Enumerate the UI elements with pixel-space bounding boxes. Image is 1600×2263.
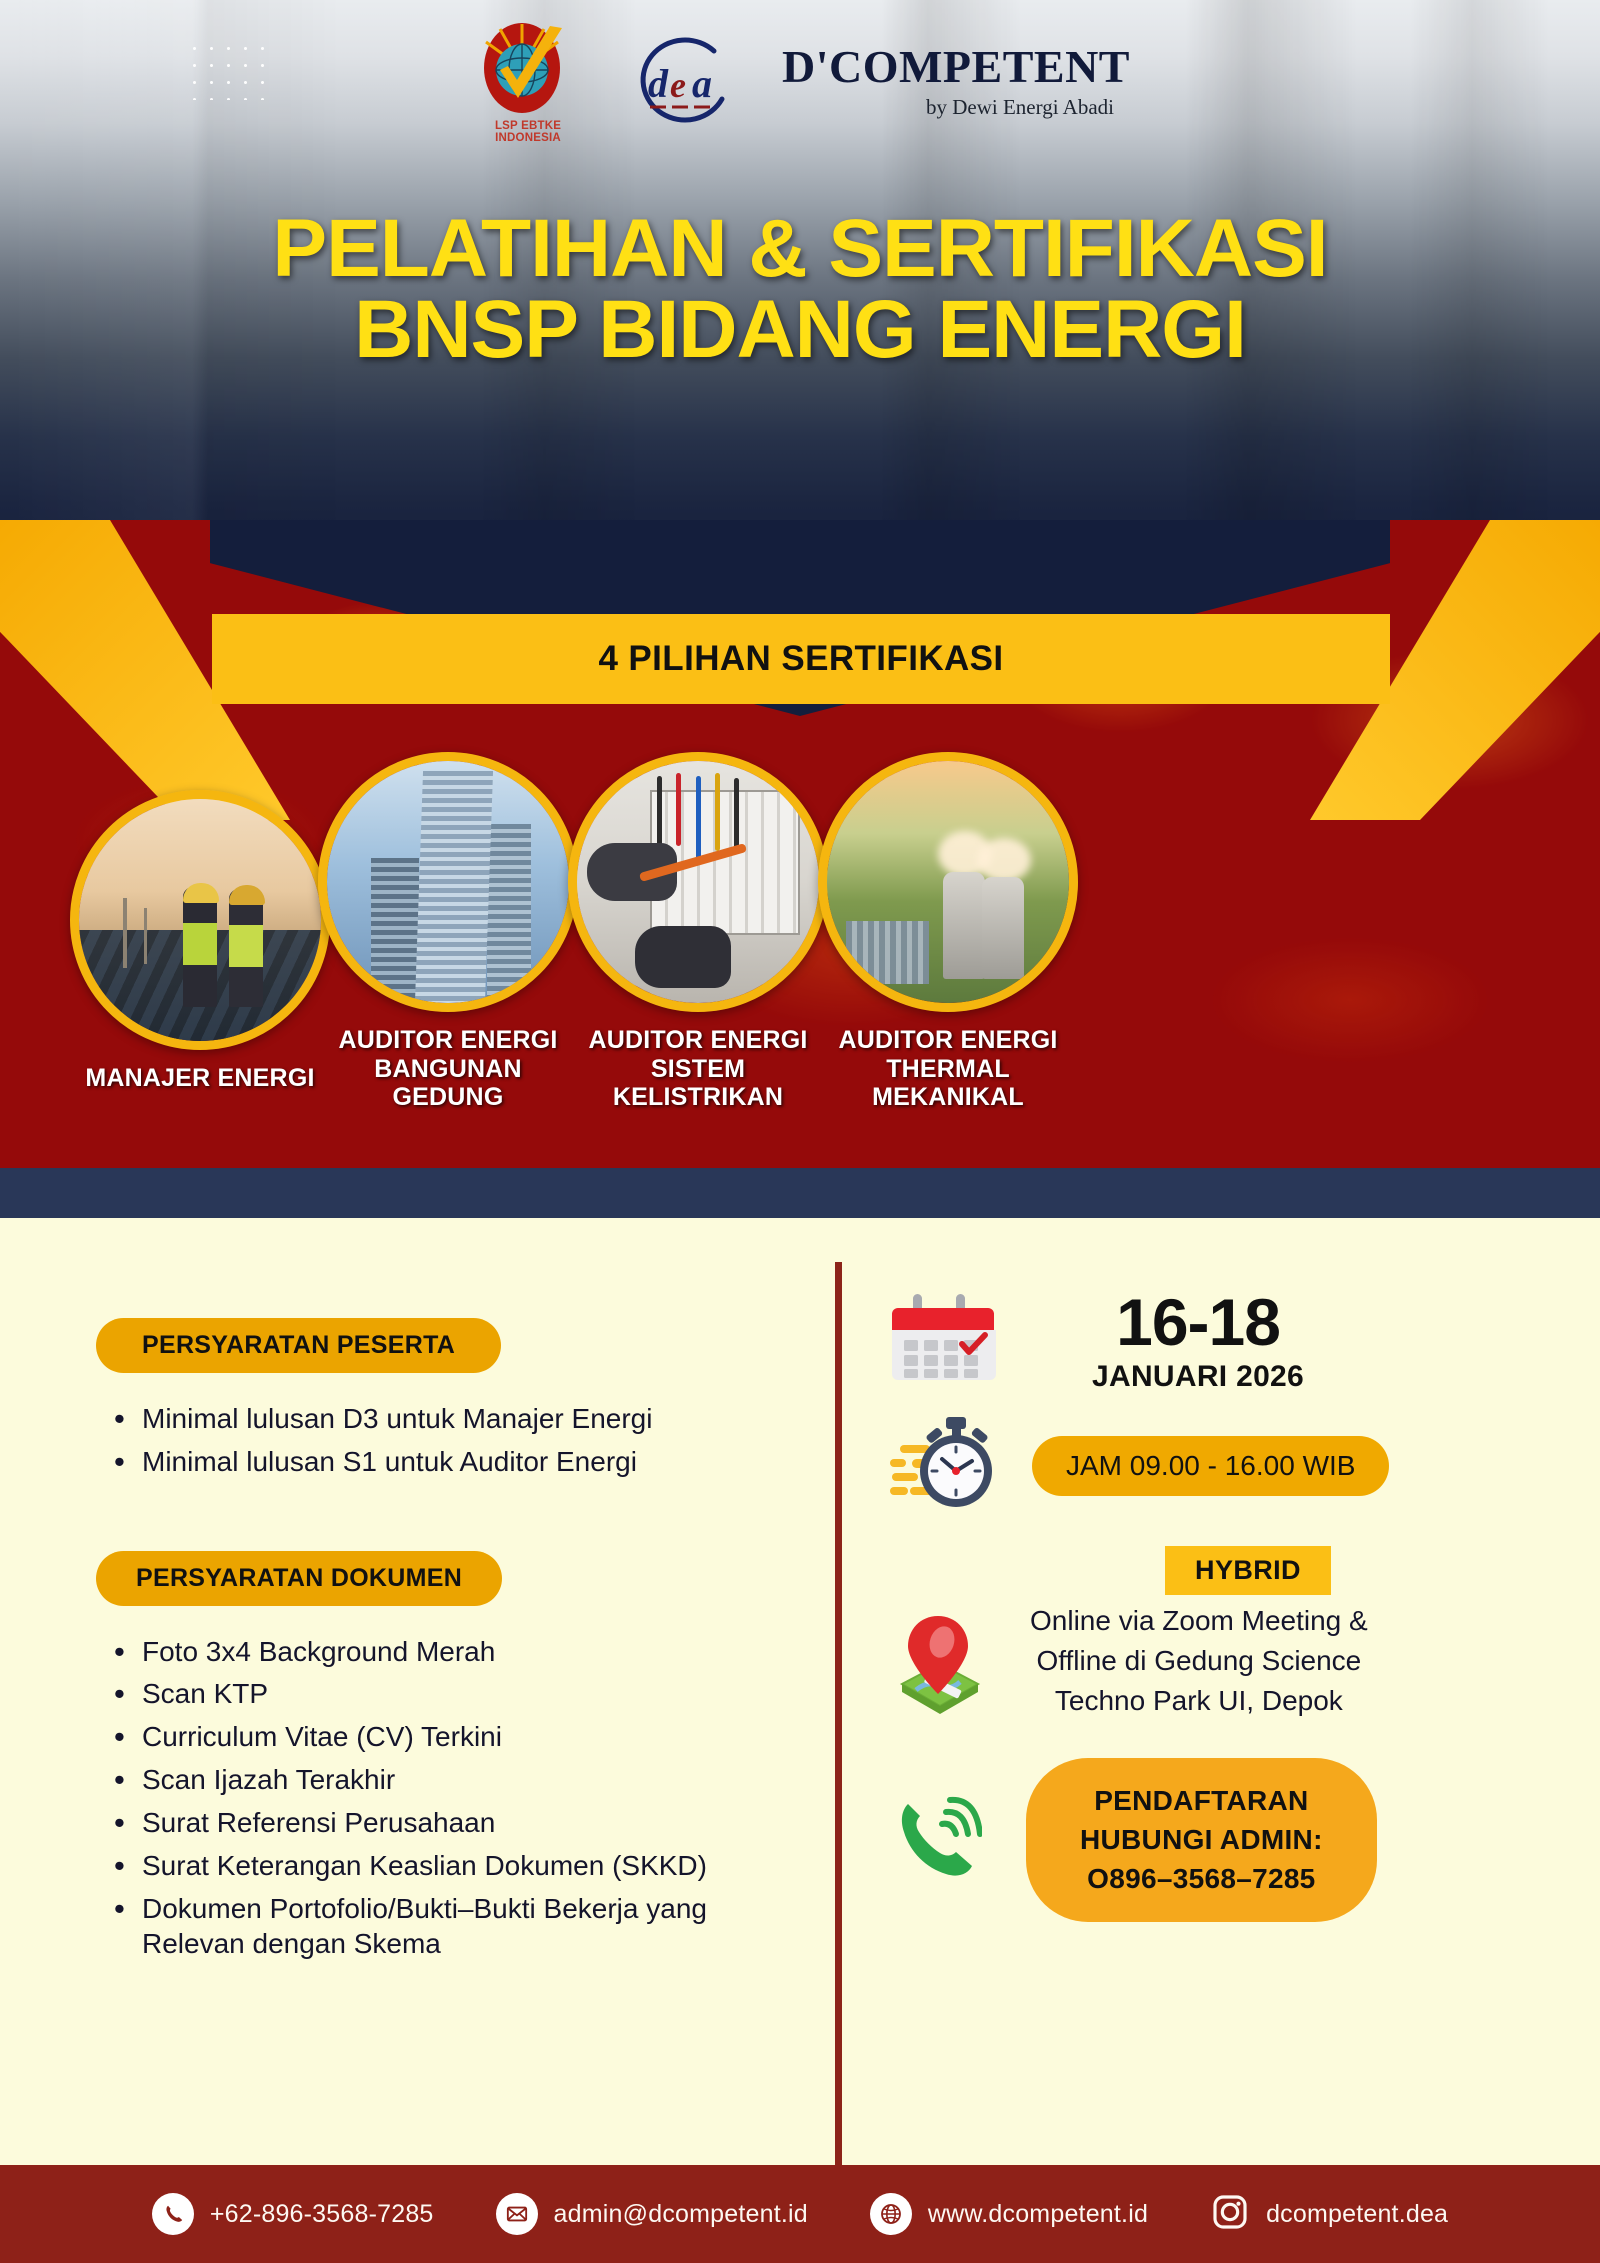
registration-line-1: PENDAFTARAN [1080, 1782, 1323, 1821]
category-label-bangunan-gedung: AUDITOR ENERGI BANGUNAN GEDUNG [318, 1026, 578, 1112]
footer-phone[interactable]: +62-896-3568-7285 [152, 2193, 434, 2235]
category-label-line2: BANGUNAN GEDUNG [318, 1055, 578, 1112]
svg-text:a: a [692, 61, 712, 106]
category-label-sistem-kelistrikan: AUDITOR ENERGI SISTEM KELISTRIKAN [568, 1026, 828, 1112]
category-label-line1: AUDITOR ENERGI [818, 1026, 1078, 1055]
category-label-manajer-energi: MANAJER ENERGI [70, 1064, 330, 1093]
phone-ringing-icon [890, 1790, 982, 1891]
footer-phone-text: +62-896-3568-7285 [210, 2200, 434, 2229]
event-date-row: 16-18 JANUARI 2026 [890, 1290, 1550, 1395]
location-line-2: Offline di Gedung Science [1030, 1641, 1368, 1681]
map-pin-icon [890, 1602, 990, 1719]
footer-instagram-text: dcompetent.dea [1266, 2200, 1448, 2229]
registration-card[interactable]: PENDAFTARAN HUBUNGI ADMIN: O896–3568–728… [1026, 1758, 1377, 1922]
header-hero: LSP EBTKE INDONESIA d e a [0, 0, 1600, 560]
office-tower-photo [327, 761, 569, 1003]
category-image-thermal-mekanikal [818, 752, 1078, 1012]
list-item: Scan Ijazah Terakhir [102, 1762, 786, 1798]
event-location-text: Online via Zoom Meeting & Offline di Ged… [1030, 1601, 1368, 1720]
document-requirements-heading: PERSYARATAN DOKUMEN [96, 1551, 502, 1606]
ribbon-banner: 4 PILIHAN SERTIFIKASI [212, 614, 1390, 704]
status-badge-hybrid: HYBRID [1165, 1546, 1331, 1595]
category-image-bangunan-gedung [318, 752, 578, 1012]
event-time-row: JAM 09.00 - 16.00 WIB [890, 1415, 1550, 1516]
location-line-3: Techno Park UI, Depok [1030, 1681, 1368, 1721]
certification-section: 4 PILIHAN SERTIFIKASI MANAJER ENERGI [0, 520, 1600, 1168]
stopwatch-icon [890, 1415, 996, 1516]
svg-text:d: d [648, 61, 669, 106]
lsp-logo-label: LSP EBTKE INDONESIA [470, 120, 586, 144]
registration-line-2: HUBUNGI ADMIN: [1080, 1821, 1323, 1860]
footer-website[interactable]: www.dcompetent.id [870, 2193, 1148, 2235]
participant-requirements-list: Minimal lulusan D3 untuk Manajer Energi … [102, 1401, 786, 1480]
event-mode-wrap: HYBRID [946, 1546, 1550, 1595]
footer-instagram[interactable]: dcompetent.dea [1210, 2192, 1448, 2237]
wind-turbine-engineers-photo [79, 799, 321, 1041]
brand-tagline: by Dewi Energi Abadi [926, 95, 1114, 120]
location-line-1: Online via Zoom Meeting & [1030, 1601, 1368, 1641]
category-label-thermal-mekanikal: AUDITOR ENERGI THERMAL MEKANIKAL [818, 1026, 1078, 1112]
event-time-badge: JAM 09.00 - 16.00 WIB [1032, 1436, 1389, 1496]
svg-text:e: e [670, 65, 686, 105]
email-icon [496, 2193, 538, 2235]
category-auditor-sistem-kelistrikan[interactable]: AUDITOR ENERGI SISTEM KELISTRIKAN [568, 752, 828, 1112]
navy-separator-bar [0, 1168, 1600, 1218]
lsp-ebtke-logo: LSP EBTKE INDONESIA [470, 22, 586, 142]
footer-website-text: www.dcompetent.id [928, 2200, 1148, 2229]
poster-root: LSP EBTKE INDONESIA d e a [0, 0, 1600, 2263]
title-line-1: PELATIHAN & SERTIFIKASI [0, 208, 1600, 289]
event-date-range: 16-18 [1092, 1291, 1304, 1354]
title-line-2: BNSP BIDANG ENERGI [0, 289, 1600, 370]
category-manajer-energi[interactable]: MANAJER ENERGI [70, 790, 330, 1093]
registration-phone: O896–3568–7285 [1080, 1860, 1323, 1899]
category-image-manajer-energi [70, 790, 330, 1050]
list-item: Surat Referensi Perusahaan [102, 1805, 786, 1841]
logo-bar: LSP EBTKE INDONESIA d e a [0, 22, 1600, 142]
calendar-icon [890, 1290, 996, 1395]
lsp-globe-check-icon [470, 22, 586, 118]
globe-icon [870, 2193, 912, 2235]
footer-email-text: admin@dcompetent.id [554, 2200, 808, 2229]
category-label-line1: AUDITOR ENERGI [318, 1026, 578, 1055]
category-label-line1: AUDITOR ENERGI [568, 1026, 828, 1055]
category-label-line2: THERMAL MEKANIKAL [818, 1055, 1078, 1112]
phone-icon [152, 2193, 194, 2235]
category-label-line1: MANAJER ENERGI [70, 1064, 330, 1093]
dea-logo: d e a [618, 35, 750, 129]
category-auditor-bangunan-gedung[interactable]: AUDITOR ENERGI BANGUNAN GEDUNG [318, 752, 578, 1112]
footer-email[interactable]: admin@dcompetent.id [496, 2193, 808, 2235]
category-label-line2: SISTEM KELISTRIKAN [568, 1055, 828, 1112]
list-item: Curriculum Vitae (CV) Terkini [102, 1719, 786, 1755]
event-date-text: 16-18 JANUARI 2026 [1092, 1291, 1304, 1394]
brand-block: D'COMPETENT by Dewi Energi Abadi [782, 44, 1130, 120]
poster-title: PELATIHAN & SERTIFIKASI BNSP BIDANG ENER… [0, 208, 1600, 370]
event-location-row: Online via Zoom Meeting & Offline di Ged… [890, 1601, 1550, 1720]
power-plant-cooling-towers-photo [827, 761, 1069, 1003]
list-item: Dokumen Portofolio/Bukti–Bukti Bekerja y… [102, 1891, 786, 1963]
ribbon-label: 4 PILIHAN SERTIFIKASI [598, 639, 1003, 679]
event-info-column: 16-18 JANUARI 2026 [890, 1290, 1550, 1922]
list-item: Minimal lulusan S1 untuk Auditor Energi [102, 1444, 786, 1480]
list-item: Scan KTP [102, 1676, 786, 1712]
requirements-column: PERSYARATAN PESERTA Minimal lulusan D3 u… [96, 1318, 786, 1969]
list-item: Foto 3x4 Background Merah [102, 1634, 786, 1670]
participant-requirements-heading: PERSYARATAN PESERTA [96, 1318, 501, 1373]
category-image-sistem-kelistrikan [568, 752, 828, 1012]
vertical-divider [835, 1262, 842, 2263]
list-item: Surat Keterangan Keaslian Dokumen (SKKD) [102, 1848, 786, 1884]
contact-footer: +62-896-3568-7285 admin@dcompetent.id [0, 2165, 1600, 2263]
document-requirements-list: Foto 3x4 Background Merah Scan KTP Curri… [102, 1634, 786, 1963]
registration-row: PENDAFTARAN HUBUNGI ADMIN: O896–3568–728… [890, 1758, 1550, 1922]
category-auditor-thermal-mekanikal[interactable]: AUDITOR ENERGI THERMAL MEKANIKAL [818, 752, 1078, 1112]
list-item: Minimal lulusan D3 untuk Manajer Energi [102, 1401, 786, 1437]
instagram-icon [1210, 2192, 1250, 2237]
brand-name: D'COMPETENT [782, 44, 1130, 90]
electrical-panel-photo [577, 761, 819, 1003]
event-month-year: JANUARI 2026 [1092, 1360, 1304, 1394]
